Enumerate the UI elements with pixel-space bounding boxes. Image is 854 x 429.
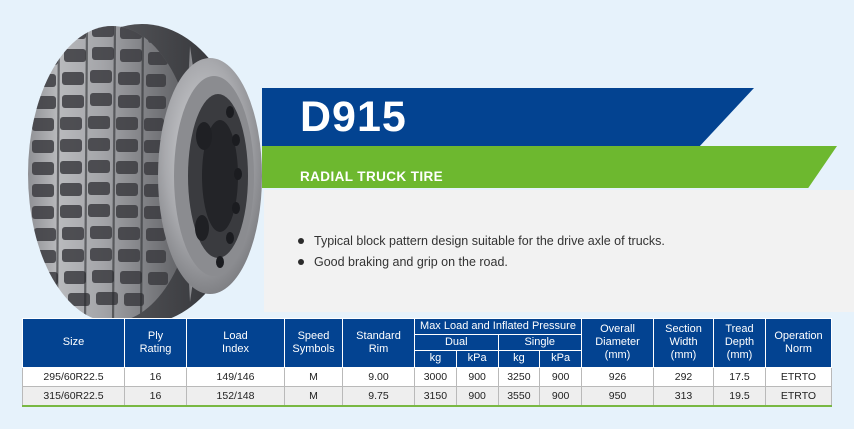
cell-tread-depth: 19.5 (714, 386, 766, 406)
header-overall-diameter: Overall Diameter (mm) (582, 319, 654, 368)
cell-standard-rim: 9.75 (343, 386, 415, 406)
feature-item: Good braking and grip on the road. (298, 253, 665, 272)
cell-load-index: 149/146 (187, 367, 285, 386)
cell-single-kg: 3550 (498, 386, 540, 406)
table-row: 295/60R22.5 16 149/146 M 9.00 3000 900 3… (23, 367, 832, 386)
header-rim-line1: Standard (345, 330, 412, 343)
bullet-dot-icon (298, 259, 304, 265)
cell-single-kg: 3250 (498, 367, 540, 386)
header-ply-rating: Ply Rating (125, 319, 187, 368)
cell-speed-symbols: M (285, 367, 343, 386)
specification-table-container: Size Ply Rating Load Index Speed Symbols… (22, 318, 832, 407)
product-model-title: D915 (300, 96, 407, 139)
cell-dual-kg: 3000 (415, 367, 457, 386)
cell-single-kpa: 900 (540, 386, 582, 406)
header-diameter-line1: Overall (584, 323, 651, 336)
header-standard-rim: Standard Rim (343, 319, 415, 368)
header-section-line2: Width (656, 336, 711, 349)
tire-illustration: D915 (14, 16, 272, 328)
header-speed-line1: Speed (287, 330, 340, 343)
feature-item: Typical block pattern design suitable fo… (298, 232, 665, 251)
cell-speed-symbols: M (285, 386, 343, 406)
cell-load-index: 152/148 (187, 386, 285, 406)
table-header: Size Ply Rating Load Index Speed Symbols… (23, 319, 832, 368)
feature-text: Good braking and grip on the road. (314, 253, 508, 272)
header-tread-line3: (mm) (716, 349, 763, 362)
cell-ply-rating: 16 (125, 367, 187, 386)
header-section-line3: (mm) (656, 349, 711, 362)
cell-dual-kpa: 900 (456, 367, 498, 386)
header-load-line2: Index (189, 343, 282, 356)
header-ply-line2: Rating (127, 343, 184, 356)
header-load-line1: Load (189, 330, 282, 343)
product-subtitle: RADIAL TRUCK TIRE (300, 169, 443, 184)
header-section-width: Section Width (mm) (654, 319, 714, 368)
header-ply-line1: Ply (127, 330, 184, 343)
cell-tread-depth: 17.5 (714, 367, 766, 386)
header-tread-depth: Tread Depth (mm) (714, 319, 766, 368)
header-tread-line2: Depth (716, 336, 763, 349)
header-speed-symbols: Speed Symbols (285, 319, 343, 368)
header-diameter-line3: (mm) (584, 349, 651, 362)
header-diameter-line2: Diameter (584, 336, 651, 349)
feature-text: Typical block pattern design suitable fo… (314, 232, 665, 251)
header-section-line1: Section (656, 323, 711, 336)
cell-operation-norm: ETRTO (766, 367, 832, 386)
header-rim-line2: Rim (345, 343, 412, 356)
table-body: 295/60R22.5 16 149/146 M 9.00 3000 900 3… (23, 367, 832, 406)
header-norm-line2: Norm (768, 343, 829, 356)
cell-ply-rating: 16 (125, 386, 187, 406)
rim-vent-hole-lower (195, 215, 209, 241)
header-dual: Dual (415, 335, 499, 351)
cell-section-width: 313 (654, 386, 714, 406)
header-max-load-group: Max Load and Inflated Pressure (415, 319, 582, 335)
header-size: Size (23, 319, 125, 368)
cell-section-width: 292 (654, 367, 714, 386)
bullet-dot-icon (298, 238, 304, 244)
header-dual-kpa: kPa (456, 351, 498, 367)
cell-dual-kg: 3150 (415, 386, 457, 406)
header-single-kpa: kPa (540, 351, 582, 367)
header-dual-kg: kg (415, 351, 457, 367)
header-single-kg: kg (498, 351, 540, 367)
table-row: 315/60R22.5 16 152/148 M 9.75 3150 900 3… (23, 386, 832, 406)
header-single: Single (498, 335, 582, 351)
cell-overall-diameter: 950 (582, 386, 654, 406)
cell-single-kpa: 900 (540, 367, 582, 386)
header-norm-line1: Operation (768, 330, 829, 343)
cell-standard-rim: 9.00 (343, 367, 415, 386)
rim-vent-hole (196, 122, 212, 150)
cell-operation-norm: ETRTO (766, 386, 832, 406)
cell-size: 295/60R22.5 (23, 367, 125, 386)
header-tread-line1: Tread (716, 323, 763, 336)
specification-table: Size Ply Rating Load Index Speed Symbols… (22, 318, 832, 407)
cell-size: 315/60R22.5 (23, 386, 125, 406)
header-operation-norm: Operation Norm (766, 319, 832, 368)
header-load-index: Load Index (187, 319, 285, 368)
tire-product-image: D915 (14, 16, 272, 328)
header-speed-line2: Symbols (287, 343, 340, 356)
cell-dual-kpa: 900 (456, 386, 498, 406)
feature-list: Typical block pattern design suitable fo… (298, 232, 665, 275)
header-row-1: Size Ply Rating Load Index Speed Symbols… (23, 319, 832, 335)
cell-overall-diameter: 926 (582, 367, 654, 386)
